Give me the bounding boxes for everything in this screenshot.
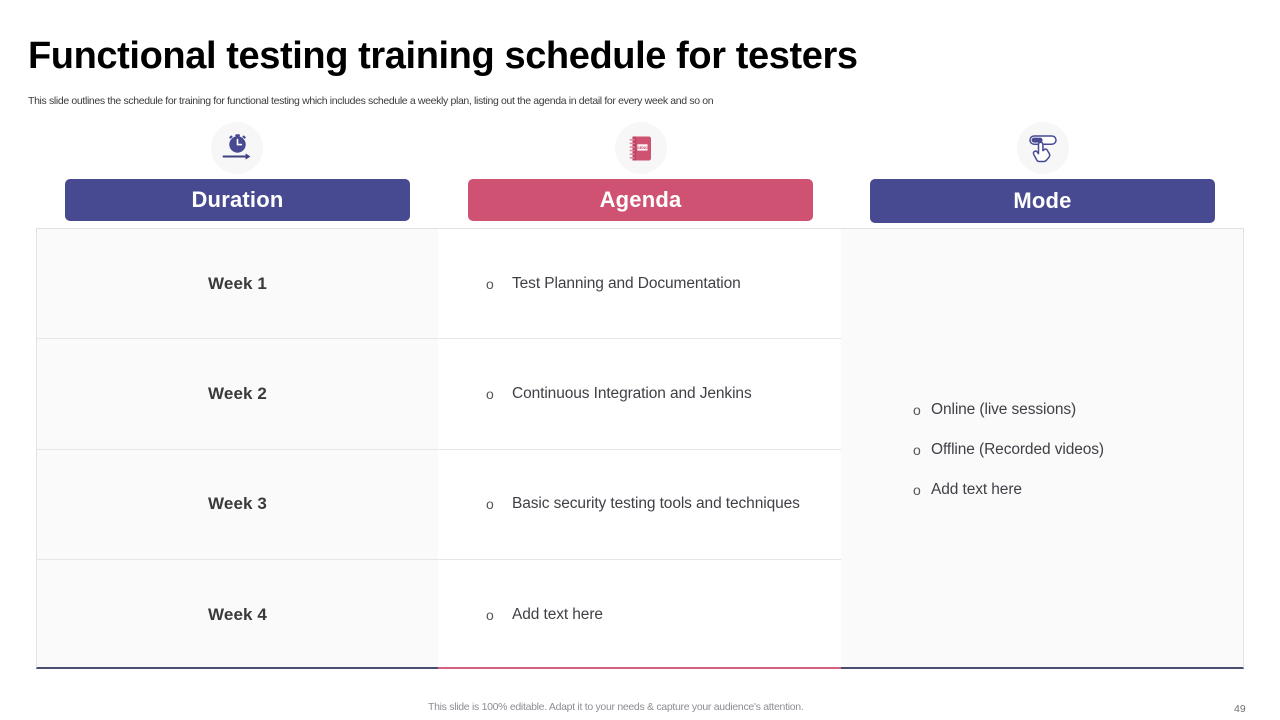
- bullet-marker-icon: o: [486, 277, 512, 291]
- header-mode[interactable]: Mode: [870, 179, 1215, 223]
- bullet-marker-icon: o: [486, 497, 512, 511]
- slide-canvas: Functional testing training schedule for…: [0, 0, 1280, 720]
- duration-label: Week 1: [208, 274, 267, 294]
- bullet-marker-icon: o: [486, 387, 512, 401]
- agenda-label: Add text here: [512, 606, 603, 624]
- bullet-marker-icon: o: [913, 483, 931, 497]
- list-item: o Offline (Recorded videos): [913, 441, 1243, 459]
- mode-label: Offline (Recorded videos): [931, 441, 1104, 459]
- bullet-marker-icon: o: [486, 608, 512, 622]
- page-number: 49: [1234, 703, 1246, 715]
- duration-label: Week 3: [208, 494, 267, 514]
- bullet-marker-icon: o: [913, 403, 931, 417]
- list-item: o Add text here: [913, 481, 1243, 499]
- page-subtitle: This slide outlines the schedule for tra…: [28, 95, 713, 107]
- column-mode: o Online (live sessions) o Offline (Reco…: [841, 228, 1244, 669]
- schedule-table: Week 1 Week 2 Week 3 Week 4 o Test Plann…: [36, 228, 1244, 669]
- column-icons: AGENDA: [36, 122, 1244, 176]
- table-row: o Add text here: [438, 560, 841, 670]
- list-item: o Online (live sessions): [913, 401, 1243, 419]
- column-headers: Duration Agenda Mode: [36, 179, 1244, 223]
- duration-label: Week 2: [208, 384, 267, 404]
- bullet-marker-icon: o: [913, 443, 931, 457]
- toggle-hand-icon: [1017, 122, 1069, 174]
- mode-label: Online (live sessions): [931, 401, 1076, 419]
- clock-arrow-icon: [211, 122, 263, 174]
- table-row: o Basic security testing tools and techn…: [438, 450, 841, 560]
- mode-label: Add text here: [931, 481, 1022, 499]
- agenda-label: Continuous Integration and Jenkins: [512, 385, 752, 403]
- header-agenda[interactable]: Agenda: [468, 179, 813, 221]
- svg-text:AGENDA: AGENDA: [634, 145, 651, 150]
- agenda-label: Basic security testing tools and techniq…: [512, 495, 800, 513]
- mode-list: o Online (live sessions) o Offline (Reco…: [841, 229, 1243, 670]
- agenda-notebook-icon: AGENDA: [615, 122, 667, 174]
- table-row: Week 3: [37, 450, 438, 560]
- duration-label: Week 4: [208, 605, 267, 625]
- agenda-label: Test Planning and Documentation: [512, 275, 741, 293]
- footer-note: This slide is 100% editable. Adapt it to…: [428, 701, 803, 713]
- table-row: Week 2: [37, 339, 438, 449]
- table-row: o Continuous Integration and Jenkins: [438, 339, 841, 449]
- column-duration: Week 1 Week 2 Week 3 Week 4: [36, 228, 439, 669]
- table-row: Week 1: [37, 229, 438, 339]
- table-row: Week 4: [37, 560, 438, 670]
- table-row: o Test Planning and Documentation: [438, 229, 841, 339]
- header-duration[interactable]: Duration: [65, 179, 410, 221]
- page-title: Functional testing training schedule for…: [28, 36, 858, 77]
- column-agenda: o Test Planning and Documentation o Cont…: [438, 228, 842, 669]
